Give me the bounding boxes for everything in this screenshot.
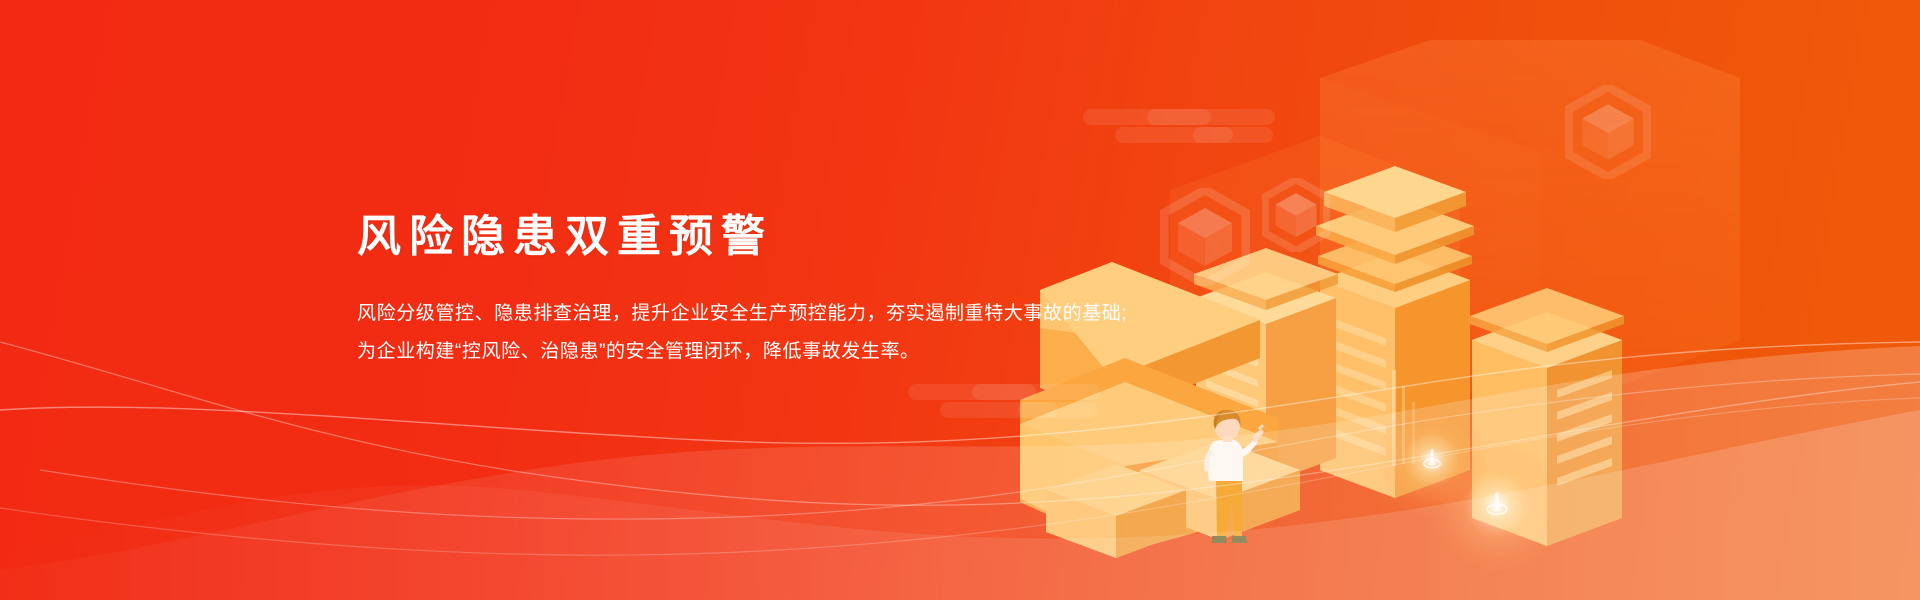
- tower-roof-stack: [1316, 166, 1474, 308]
- banner-description: 风险分级管控、隐患排查治理，提升企业安全生产预控能力，夯实遏制重特大事故的基础;…: [357, 295, 1187, 371]
- cloud-motif-upper: [1075, 105, 1275, 165]
- banner-description-line-1: 风险分级管控、隐患排查治理，提升企业安全生产预控能力，夯实遏制重特大事故的基础;: [357, 295, 1187, 333]
- cloud-bar: [1193, 127, 1273, 143]
- hero-banner: 风险隐患双重预警 风险分级管控、隐患排查治理，提升企业安全生产预控能力，夯实遏制…: [0, 0, 1920, 600]
- wave-decoration: [0, 340, 1920, 600]
- banner-copy: 风险隐患双重预警 风险分级管控、隐患排查治理，提升企业安全生产预控能力，夯实遏制…: [357, 212, 1187, 371]
- banner-description-line-2: 为企业构建“控风险、治隐患”的安全管理闭环，降低事故发生率。: [357, 333, 1187, 371]
- banner-title: 风险隐患双重预警: [357, 212, 1187, 263]
- hexagon-cube-icon: [1262, 178, 1330, 252]
- hexagon-cube-icon: [1565, 85, 1651, 179]
- cloud-bar: [1147, 109, 1275, 125]
